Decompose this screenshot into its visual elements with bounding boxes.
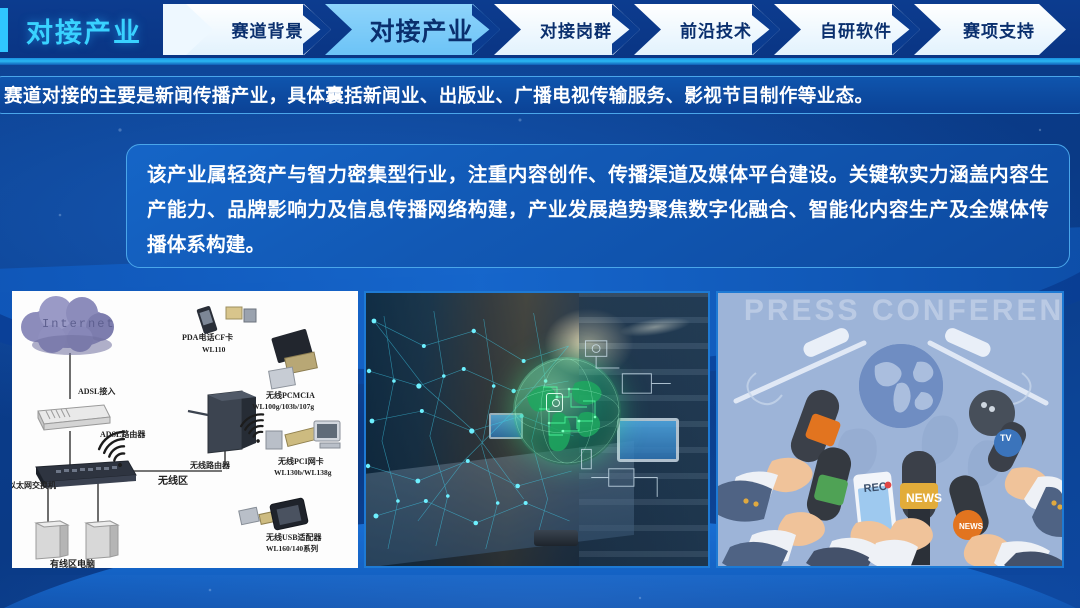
label-wireless-usb: 无线USB适配器 [266,533,322,543]
tab-label: 对接岗群 [540,17,612,42]
label-pcmcia-model: WL100g/103b/107g [252,402,314,412]
chevron-right-icon [892,4,922,55]
svg-text:REC: REC [863,481,887,495]
image-network-topology[interactable]: Internet ADSL接入 ADSL路由器 PDA电话CF卡 WL110 无… [12,291,358,568]
headline-text: 赛道对接的主要是新闻传播产业，具体囊括新闻业、出版业、广播电视传输服务、影视节目… [4,82,873,108]
nav-left-accent [0,8,8,52]
tab-qianyan-jishu[interactable]: 前沿技术 [634,4,780,55]
tab-label: 赛项支持 [963,17,1035,42]
tab-ziyan-ruanjian[interactable]: 自研软件 [774,4,920,55]
svg-text:NEWS: NEWS [906,491,942,505]
tab-saidao-beijing[interactable]: 赛道背景 [186,4,331,55]
digital-globe-scene [364,291,710,568]
chevron-right-icon [472,4,502,55]
label-adsl-router: ADSL路由器 [100,430,145,440]
chevron-right-icon [752,4,782,55]
press-conference-scene: PRESS CONFERENCE [716,291,1064,568]
hud-schematic-overlay [579,335,697,529]
chevron-right-icon [303,4,333,55]
label-adsl-access: ADSL接入 [78,387,115,397]
network-diagram-canvas: Internet ADSL接入 ADSL路由器 PDA电话CF卡 WL110 无… [12,291,358,568]
brand-title: 对接产业 [26,10,142,50]
label-wireless-pci: 无线PCI网卡 [278,457,324,467]
body-content-card: 该产业属轻资产与智力密集型行业，注重内容创作、传播渠道及媒体平台建设。关键软实力… [126,144,1070,268]
image-digital-globe[interactable] [364,291,710,568]
tab-label: 对接产业 [369,12,473,48]
svg-text:TV: TV [1000,433,1012,443]
tab-duijie-chanye[interactable]: 对接产业 [325,4,500,55]
slide-root: 对接产业 赛道背景 对接产业 对接岗群 前沿技术 自研软件 赛项支持 赛道对接的… [0,0,1080,608]
tab-label: 前沿技术 [680,17,752,42]
nav-tab-list: 赛道背景 对接产业 对接岗群 前沿技术 自研软件 赛项支持 [186,4,1080,55]
label-pcmcia: 无线PCMCIA [266,391,315,401]
label-wireless-pci-model: WL130b/WL138g [274,468,332,478]
label-ethernet-switch: 以太网交换机 [12,481,56,491]
label-pda-cf-card: PDA电话CF卡 [182,333,233,343]
tab-saixiang-zhichi[interactable]: 赛项支持 [914,4,1066,55]
location-pin-icon [546,393,563,412]
label-wireless-usb-model: WL160/140系列 [266,544,318,554]
body-paragraph: 该产业属轻资产与智力密集型行业，注重内容创作、传播渠道及媒体平台建设。关键软实力… [147,158,1049,263]
tab-label: 自研软件 [820,17,892,42]
nav-underline [0,58,1080,65]
label-internet: Internet [42,317,116,331]
label-wireless-router: 无线路由器 [190,461,230,471]
tab-label: 赛道背景 [232,17,304,42]
illustration-row: Internet ADSL接入 ADSL路由器 PDA电话CF卡 WL110 无… [12,291,1070,568]
edge-device [534,530,578,546]
chevron-right-icon [612,4,642,55]
tab-duijie-gangqun[interactable]: 对接岗群 [494,4,640,55]
microphones-and-hands: REC NEWS [716,291,1064,568]
svg-text:NEWS: NEWS [959,522,984,531]
label-wireless-zone: 无线区 [158,477,188,487]
image-press-conference[interactable]: PRESS CONFERENCE [716,291,1064,568]
headline-banner: 赛道对接的主要是新闻传播产业，具体囊括新闻业、出版业、广播电视传输服务、影视节目… [0,76,1080,114]
label-pda-model: WL110 [202,345,225,355]
label-wired-pc: 有线区电脑 [50,559,95,568]
